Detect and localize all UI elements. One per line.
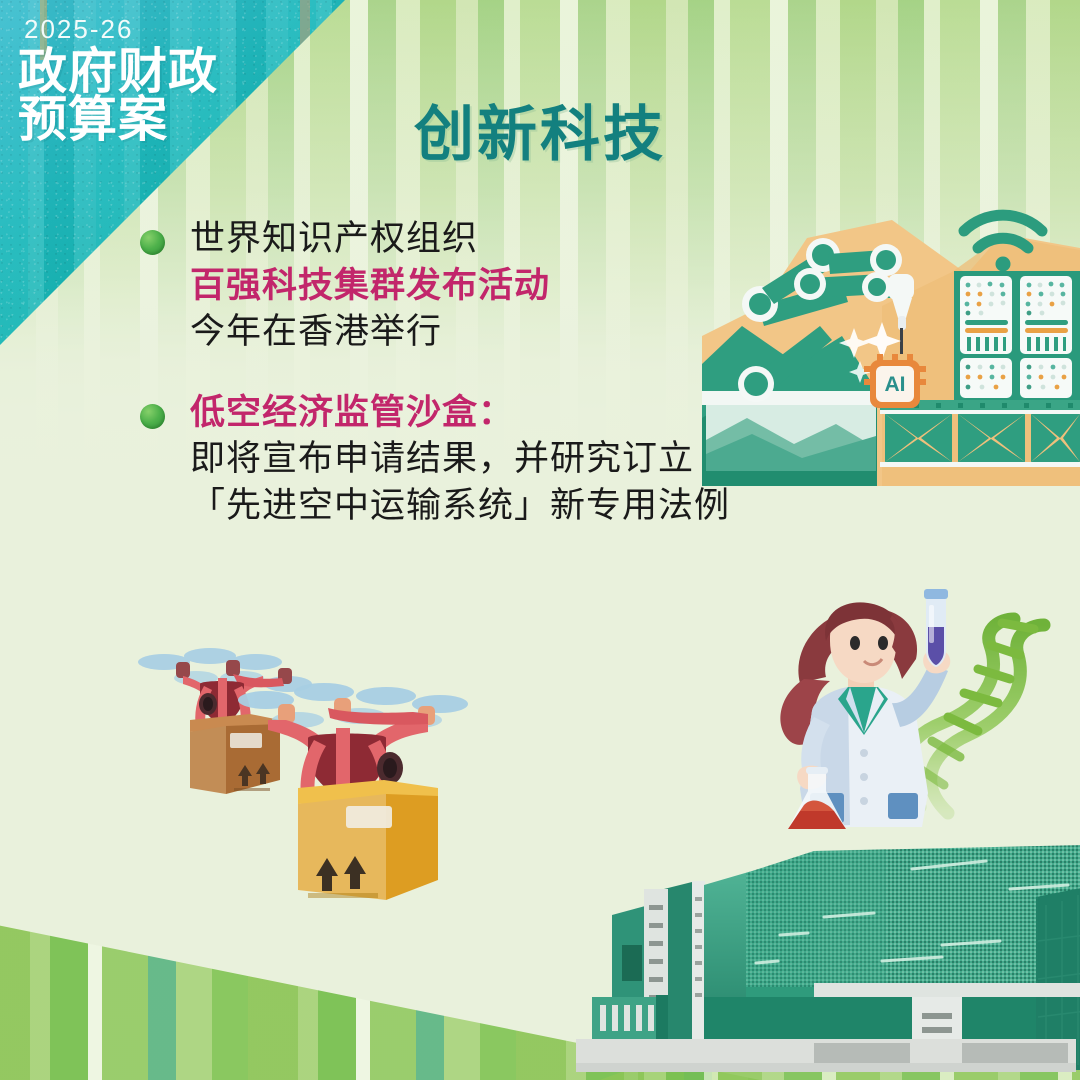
drone-right <box>238 683 468 900</box>
bullet-line-highlight: 百强科技集群发布活动 <box>190 263 820 310</box>
eye-left <box>850 636 860 650</box>
window-dark <box>622 945 642 981</box>
bullet-line: 即将宣布申请结果，并研究订立 <box>190 436 820 483</box>
page-title: 创新科技 <box>0 86 1080 173</box>
cargo-box-left <box>190 714 280 794</box>
bullet-list: 世界知识产权组织 百强科技集群发布活动 今年在香港举行 低空经济监管沙盒： 即将… <box>140 216 820 563</box>
shipping-label <box>346 806 392 828</box>
server-rack-icon <box>954 271 1080 401</box>
delivery-drone-illustration <box>138 628 528 918</box>
bullet-line: 今年在香港举行 <box>190 309 820 356</box>
wifi-signal-icon <box>964 215 1042 248</box>
truss-base <box>880 410 1080 467</box>
scientist-illustration <box>752 575 1080 905</box>
list-item: 世界知识产权组织 百强科技集群发布活动 今年在香港举行 <box>140 216 820 356</box>
ai-chip-icon: AI <box>864 354 926 408</box>
list-item: 低空经济监管沙盒： 即将宣布申请结果，并研究订立 「先进空中运输系统」新专用法例 <box>140 390 820 530</box>
cargo-box-right <box>298 780 438 900</box>
budget-infographic-poster: 2025-26 政府财政 预算案 创新科技 世界知识产权组织 百强科技集群发布活… <box>0 0 1080 1080</box>
wifi-dot-icon <box>996 257 1011 272</box>
eye-right <box>878 636 888 650</box>
shipping-label <box>230 733 262 748</box>
canopy <box>814 983 1080 997</box>
banner-year-label: 2025-26 <box>24 14 133 45</box>
coat-pocket-right <box>888 793 918 819</box>
bullet-dot-icon <box>140 230 165 255</box>
test-tube-icon <box>924 589 948 667</box>
bullet-dot-icon <box>140 404 165 429</box>
bullet-line-highlight: 低空经济监管沙盒： <box>190 390 820 437</box>
ai-chip-label: AI <box>885 373 906 396</box>
bullet-line: 「先进空中运输系统」新专用法例 <box>190 483 820 530</box>
bullet-line: 世界知识产权组织 <box>190 216 820 263</box>
